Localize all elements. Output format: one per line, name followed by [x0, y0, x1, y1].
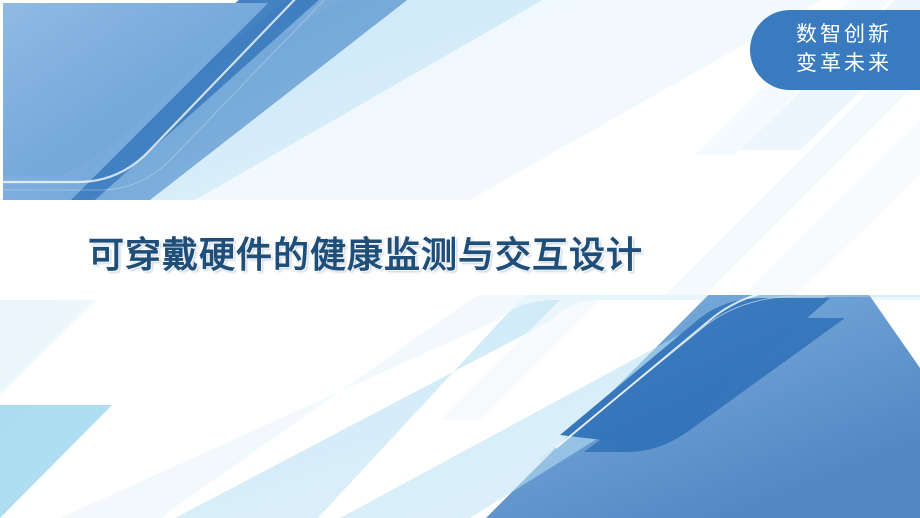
top-left-decor-group	[0, 0, 840, 268]
page-title: 可穿戴硬件的健康监测与交互设计	[88, 234, 643, 275]
brand-badge-line-2: 变革未来	[796, 50, 892, 79]
brand-badge: 数智创新 变革未来	[750, 10, 920, 90]
brand-badge-line-1: 数智创新	[796, 21, 892, 50]
presentation-slide: 可穿戴硬件的健康监测与交互设计 数智创新 变革未来	[0, 0, 920, 518]
